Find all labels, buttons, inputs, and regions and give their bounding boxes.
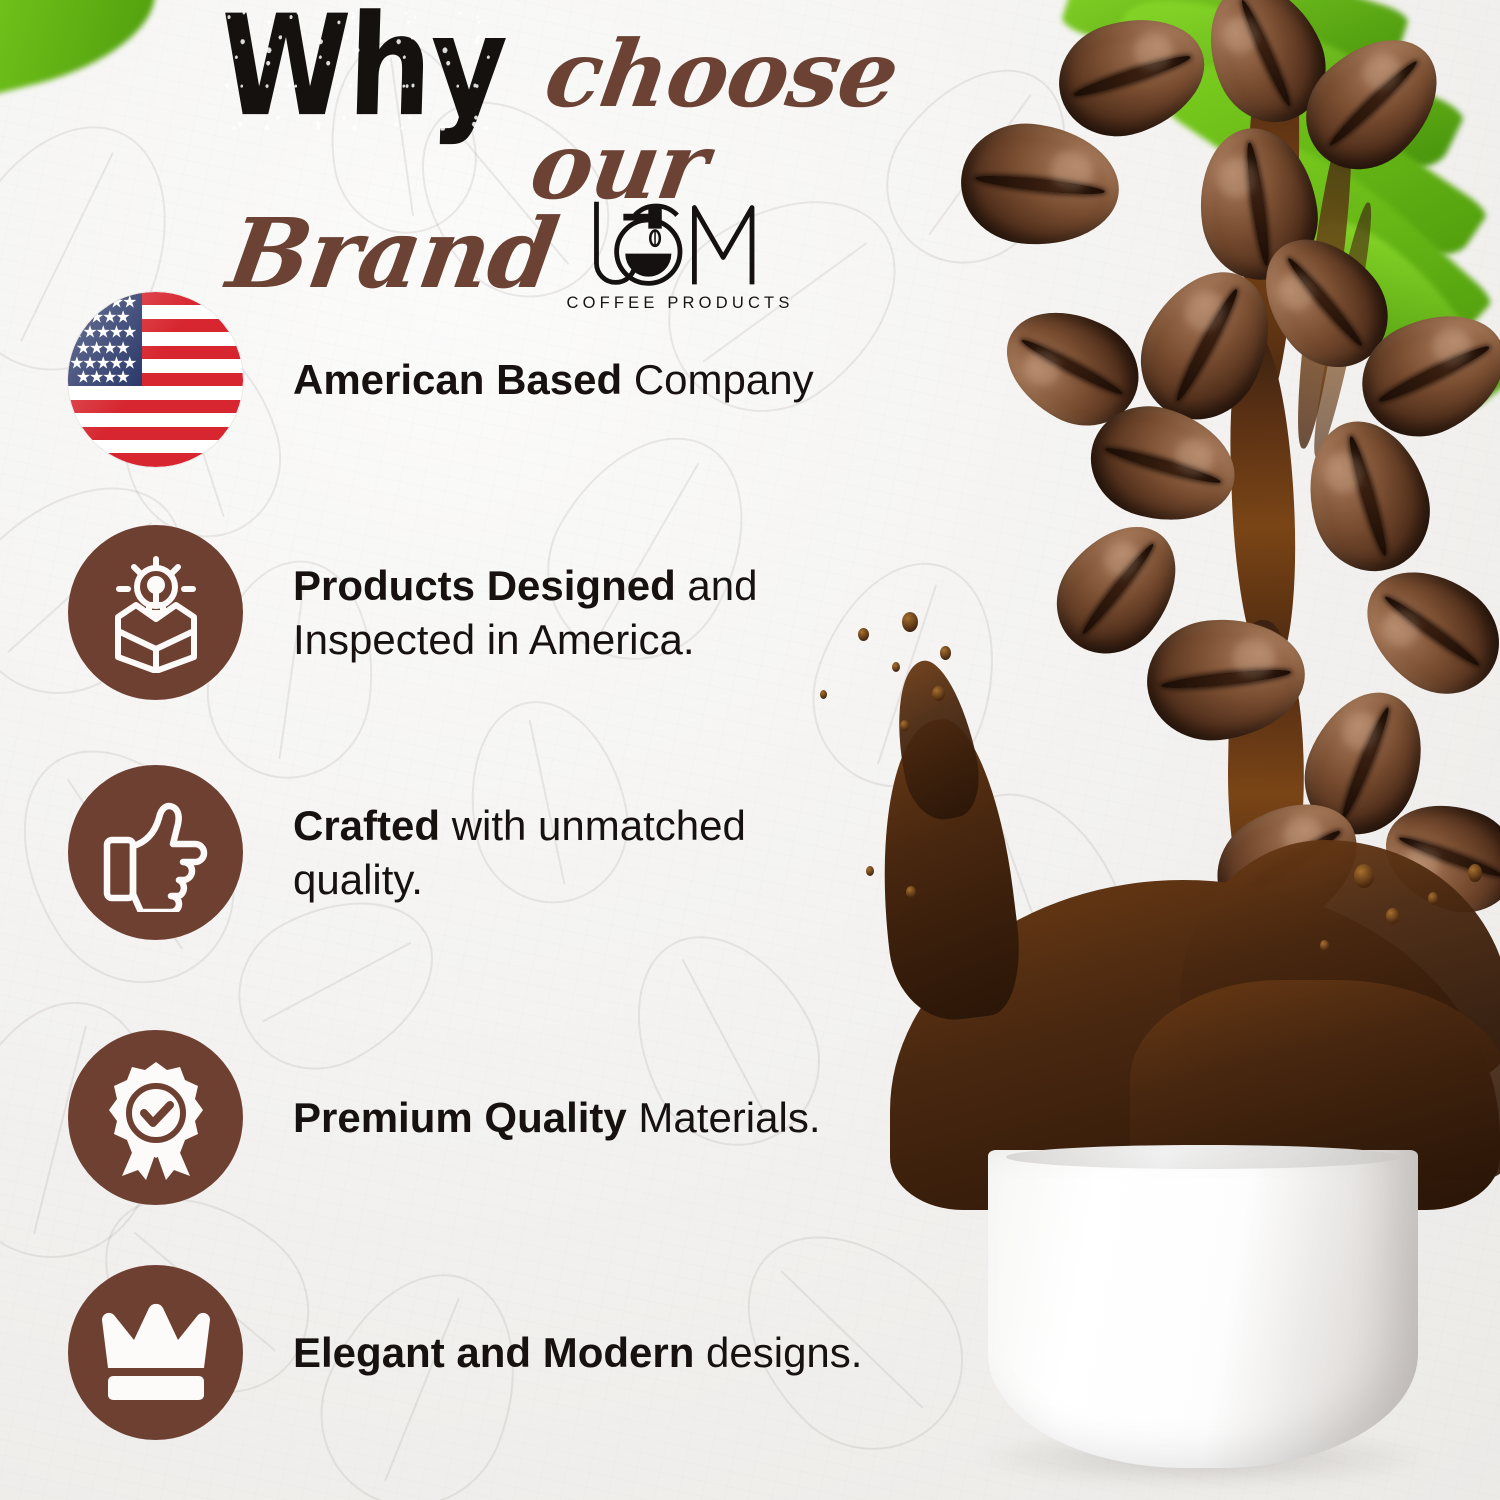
feature-text-rest: Company xyxy=(622,356,813,403)
feature-text: Products Designed and Inspected in Ameri… xyxy=(293,559,758,667)
coffee-speck xyxy=(932,686,945,701)
feature-text-rest: with unmatched xyxy=(440,802,746,849)
feature-text-rest: designs. xyxy=(694,1329,862,1376)
feature-text-rest: Materials. xyxy=(627,1094,821,1141)
feature-row-elegant-modern: Elegant and Modern designs. xyxy=(68,1265,862,1440)
feature-text-bold: Premium Quality xyxy=(293,1094,627,1141)
feature-row-american-based: ★★ ★★ ★ ★★ ★★ ★★ ★★ ★ ★★ ★★ ★★ ★★ ★ ★★ xyxy=(68,292,814,467)
coffee-speck xyxy=(906,886,916,898)
feature-text-bold: Crafted xyxy=(293,802,440,849)
award-ribbon-check-icon xyxy=(68,1030,243,1205)
coffee-speck xyxy=(858,628,869,641)
headline-word-choose-our: choose our xyxy=(525,28,1071,212)
feature-text: Crafted with unmatched quality. xyxy=(293,799,746,907)
feature-text-bold: American Based xyxy=(293,356,622,403)
coffee-speck xyxy=(892,662,900,672)
american-flag-icon: ★★ ★★ ★ ★★ ★★ ★★ ★★ ★ ★★ ★★ ★★ ★★ ★ ★★ xyxy=(68,292,243,467)
feature-text: Elegant and Modern designs. xyxy=(293,1326,862,1380)
coffee-speck xyxy=(866,866,874,876)
box-lightbulb-design-icon xyxy=(68,525,243,700)
feature-text-line2: Inspected in America. xyxy=(293,616,695,663)
feature-text: American Based Company xyxy=(293,353,814,407)
coffee-speck xyxy=(820,690,827,699)
feature-row-crafted: Crafted with unmatched quality. xyxy=(68,765,746,940)
feature-text-rest: and xyxy=(676,562,758,609)
feature-text-line2: quality. xyxy=(293,856,423,903)
coffee-cup-dripper-logo-icon xyxy=(560,196,800,292)
feature-row-products-designed: Products Designed and Inspected in Ameri… xyxy=(68,525,758,700)
headline-word-brand: Brand xyxy=(222,206,563,302)
thumbs-up-icon xyxy=(68,765,243,940)
feature-text: Premium Quality Materials. xyxy=(293,1091,820,1145)
coffee-cup xyxy=(988,1150,1418,1468)
feature-text-bold: Products Designed xyxy=(293,562,676,609)
coffee-speck xyxy=(900,720,909,731)
feature-row-premium-quality: Premium Quality Materials. xyxy=(68,1030,820,1205)
feature-text-bold: Elegant and Modern xyxy=(293,1329,694,1376)
promo-infographic: Why choose our Brand COFFEE PRODUCTS xyxy=(0,0,1500,1500)
crown-icon xyxy=(68,1265,243,1440)
headline-word-why: Why xyxy=(218,2,507,130)
